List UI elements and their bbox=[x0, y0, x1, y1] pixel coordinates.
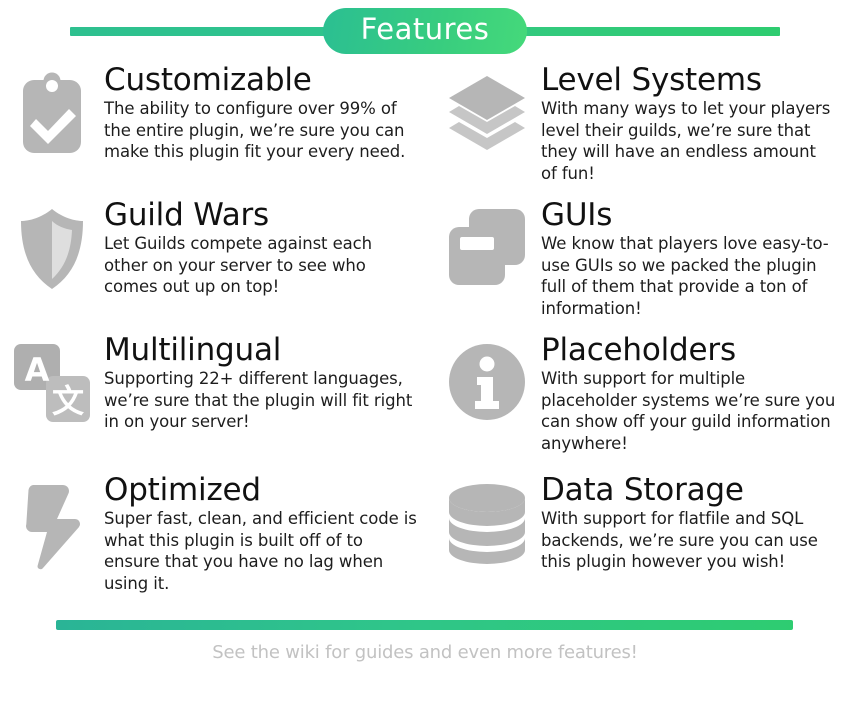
feature-text: Data Storage With support for flatfile a… bbox=[541, 474, 850, 573]
feature-text: Multilingual Supporting 22+ different la… bbox=[104, 334, 433, 433]
svg-text:A: A bbox=[25, 351, 50, 389]
feature-title: Data Storage bbox=[541, 474, 836, 506]
feature-text: Placeholders With support for multiple p… bbox=[541, 334, 850, 454]
feature-item-guis: GUIs We know that players love easy-to-u… bbox=[433, 199, 850, 334]
feature-title: GUIs bbox=[541, 199, 836, 231]
header-rule-right bbox=[505, 27, 780, 36]
feature-item-customizable: Customizable The ability to configure ov… bbox=[0, 64, 433, 199]
feature-item-placeholders: Placeholders With support for multiple p… bbox=[433, 334, 850, 474]
database-icon bbox=[433, 474, 541, 566]
feature-item-level-systems: Level Systems With many ways to let your… bbox=[433, 64, 850, 199]
shield-icon bbox=[0, 199, 104, 291]
feature-title: Multilingual bbox=[104, 334, 419, 366]
feature-text: Customizable The ability to configure ov… bbox=[104, 64, 433, 163]
header-rule-left bbox=[70, 27, 345, 36]
features-page: Features Customizable The ability to con… bbox=[0, 0, 850, 728]
feature-item-multilingual: A 文 Multilingual Supporting 22+ differen… bbox=[0, 334, 433, 474]
clipboard-check-icon bbox=[0, 64, 104, 156]
feature-item-data-storage: Data Storage With support for flatfile a… bbox=[433, 474, 850, 609]
footer-note: See the wiki for guides and even more fe… bbox=[0, 642, 850, 663]
info-circle-icon bbox=[433, 334, 541, 422]
windows-panels-icon bbox=[433, 199, 541, 287]
page-header: Features bbox=[0, 0, 850, 62]
feature-description: Supporting 22+ different languages, we’r… bbox=[104, 368, 419, 432]
feature-description: We know that players love easy-to-use GU… bbox=[541, 233, 836, 319]
page-title: Features bbox=[361, 15, 490, 44]
feature-description: With support for flatfile and SQL backen… bbox=[541, 508, 836, 572]
feature-item-optimized: Optimized Super fast, clean, and efficie… bbox=[0, 474, 433, 609]
feature-description: Let Guilds compete against each other on… bbox=[104, 233, 419, 297]
feature-title: Optimized bbox=[104, 474, 419, 506]
translate-icon: A 文 bbox=[0, 334, 104, 424]
feature-title: Customizable bbox=[104, 64, 419, 96]
feature-text: Optimized Super fast, clean, and efficie… bbox=[104, 474, 433, 594]
features-badge: Features bbox=[323, 8, 528, 54]
features-grid: Customizable The ability to configure ov… bbox=[0, 64, 850, 609]
feature-title: Guild Wars bbox=[104, 199, 419, 231]
feature-text: Guild Wars Let Guilds compete against ea… bbox=[104, 199, 433, 298]
footer-rule bbox=[56, 620, 793, 630]
layers-icon bbox=[433, 64, 541, 152]
feature-text: Level Systems With many ways to let your… bbox=[541, 64, 850, 184]
feature-description: With support for multiple placeholder sy… bbox=[541, 368, 836, 454]
lightning-bolt-icon bbox=[0, 474, 104, 570]
page-footer: See the wiki for guides and even more fe… bbox=[0, 609, 850, 728]
feature-text: GUIs We know that players love easy-to-u… bbox=[541, 199, 850, 319]
svg-text:文: 文 bbox=[52, 382, 84, 420]
feature-title: Level Systems bbox=[541, 64, 836, 96]
feature-description: With many ways to let your players level… bbox=[541, 98, 836, 184]
feature-item-guild-wars: Guild Wars Let Guilds compete against ea… bbox=[0, 199, 433, 334]
feature-title: Placeholders bbox=[541, 334, 836, 366]
feature-description: Super fast, clean, and efficient code is… bbox=[104, 508, 419, 594]
feature-description: The ability to configure over 99% of the… bbox=[104, 98, 419, 162]
